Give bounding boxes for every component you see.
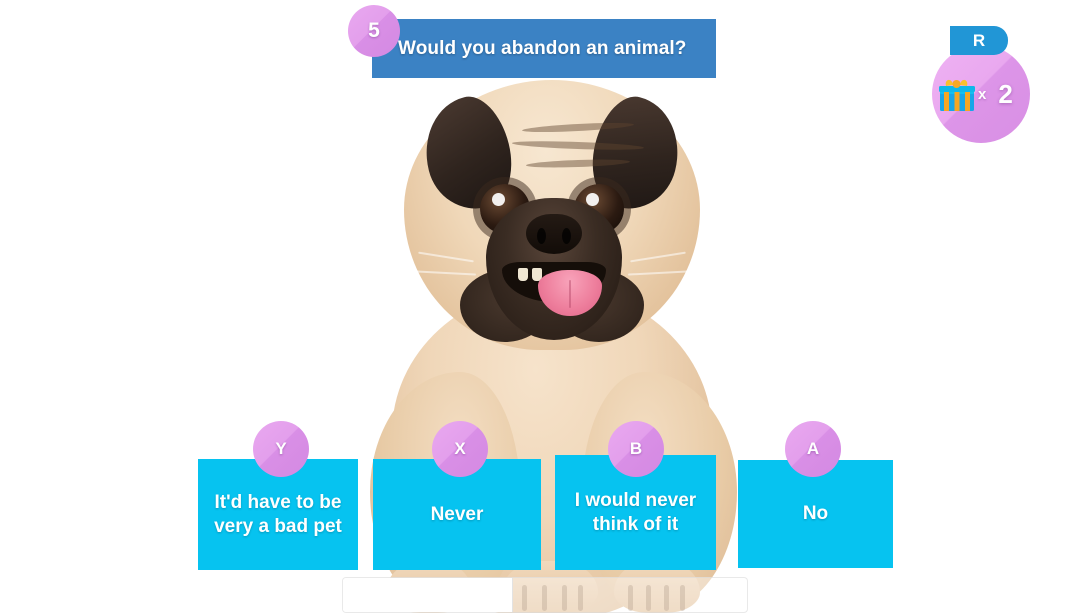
reward-count: 2 — [998, 79, 1012, 110]
answer-key-badge-x: X — [432, 421, 488, 477]
answer-text: No — [803, 502, 828, 525]
progress-bar — [342, 577, 748, 613]
quiz-screen: 5 Would you abandon an animal? x — [0, 0, 1090, 613]
reward-tab[interactable]: R — [950, 26, 1008, 55]
reward-multiplier-symbol: x — [978, 86, 986, 103]
dog-nose — [526, 214, 582, 254]
dog-tongue — [538, 270, 602, 316]
answer-key-label: A — [807, 439, 819, 459]
answer-key-label: Y — [275, 439, 286, 459]
question-text: Would you abandon an animal? — [398, 38, 687, 60]
answer-text: It'd have to be very a bad pet — [208, 491, 348, 537]
answer-key-label: B — [630, 439, 642, 459]
dog-head — [404, 80, 700, 350]
progress-bar-fill — [343, 578, 513, 612]
gift-icon — [938, 76, 976, 112]
reward-content: x 2 — [932, 45, 1030, 143]
question-number-badge: 5 — [348, 5, 400, 57]
answer-key-badge-b: B — [608, 421, 664, 477]
answer-text: I would never think of it — [565, 489, 706, 535]
question-number: 5 — [368, 19, 380, 43]
answer-text: Never — [431, 503, 484, 526]
reward-widget[interactable]: x 2 — [932, 45, 1030, 143]
answer-key-label: X — [454, 439, 465, 459]
answer-key-badge-a: A — [785, 421, 841, 477]
dog-mouth — [502, 262, 606, 302]
answer-key-badge-y: Y — [253, 421, 309, 477]
reward-tab-label: R — [973, 31, 985, 51]
question-banner: Would you abandon an animal? — [372, 19, 716, 78]
